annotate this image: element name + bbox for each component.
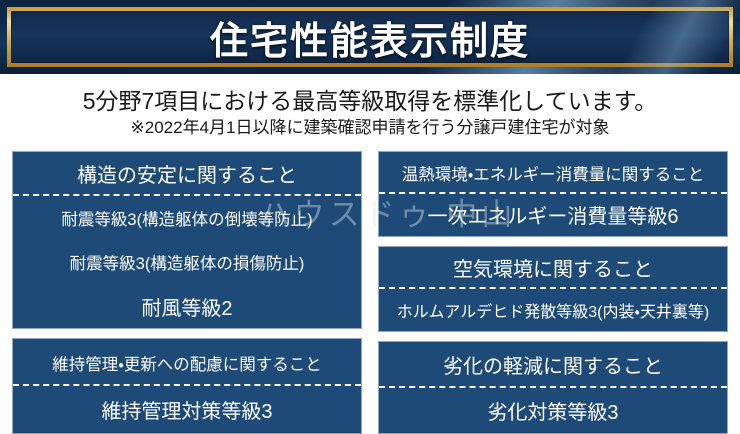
category-item: 劣化対策等級3 xyxy=(379,388,727,433)
category-heading: 維持管理・更新への配慮に関すること xyxy=(13,339,361,386)
category-item: 耐風等級2 xyxy=(13,285,361,329)
category-item: 耐震等級3(構造躯体の倒壊等防止) xyxy=(13,196,361,241)
performance-table: 構造の安定に関すること 耐震等級3(構造躯体の倒壊等防止) 耐震等級3(構造躯体… xyxy=(0,151,740,434)
category-block-air-quality: 空気環境に関すること ホルムアルデヒド発散等級3(内装・天井裏等) xyxy=(378,246,728,332)
category-heading: 構造の安定に関すること xyxy=(13,152,361,196)
category-item: ホルムアルデヒド発散等級3(内装・天井裏等) xyxy=(379,289,727,332)
category-heading: 空気環境に関すること xyxy=(379,247,727,289)
category-block-thermal: 温熱環境・エネルギー消費量に関すること 一次エネルギー消費量等級6 xyxy=(378,151,728,237)
category-block-degradation: 劣化の軽減に関すること 劣化対策等級3 xyxy=(378,341,728,434)
table-left-column: 構造の安定に関すること 耐震等級3(構造躯体の倒壊等防止) 耐震等級3(構造躯体… xyxy=(0,151,370,434)
category-item: 維持管理対策等級3 xyxy=(13,386,361,433)
category-heading: 温熱環境・エネルギー消費量に関すること xyxy=(379,152,727,194)
table-right-column: 温熱環境・エネルギー消費量に関すること 一次エネルギー消費量等級6 空気環境に関… xyxy=(370,151,740,434)
category-item: 一次エネルギー消費量等級6 xyxy=(379,194,727,237)
subtitle-note-text: ※2022年4月1日以降に建築確認申請を行う分譲戸建住宅が対象 xyxy=(131,119,610,138)
category-block-structure: 構造の安定に関すること 耐震等級3(構造躯体の倒壊等防止) 耐震等級3(構造躯体… xyxy=(12,151,362,329)
category-item: 耐震等級3(構造躯体の損傷防止) xyxy=(13,240,361,285)
subtitle-main-text: 5分野7項目における最高等級取得を標準化しています。 xyxy=(83,89,658,114)
subtitle-section: 5分野7項目における最高等級取得を標準化しています。 ※2022年4月1日以降に… xyxy=(0,76,740,150)
header-banner: 住宅性能表示制度 xyxy=(0,0,740,74)
category-heading: 劣化の軽減に関すること xyxy=(379,342,727,387)
category-block-maintenance: 維持管理・更新への配慮に関すること 維持管理対策等級3 xyxy=(12,338,362,434)
page-title: 住宅性能表示制度 xyxy=(0,0,740,74)
